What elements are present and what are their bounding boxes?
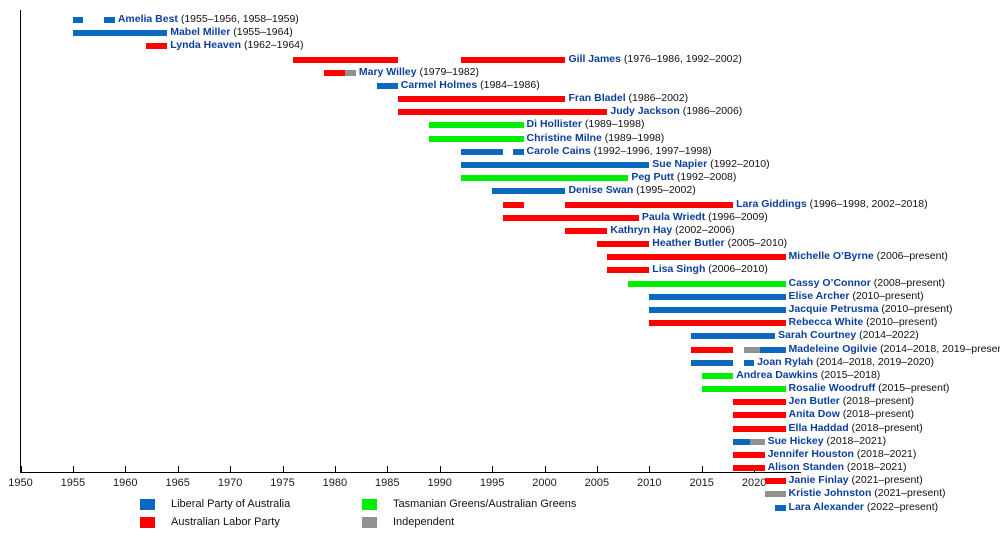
timeline-row[interactable]: Jacquie Petrusma (2010–present) — [0, 304, 1000, 317]
member-term-years: (2006–2010) — [705, 263, 767, 275]
timeline-row-label: Sarah Courtney (2014–2022) — [778, 329, 919, 342]
member-name: Heather Butler — [652, 237, 724, 249]
timeline-row[interactable]: Kathryn Hay (2002–2006) — [0, 225, 1000, 238]
member-term-years: (2018–present) — [840, 408, 914, 420]
timeline-row-label: Heather Butler (2005–2010) — [652, 237, 787, 250]
timeline-chart: 1950195519601965197019751980198519901995… — [0, 0, 1000, 546]
timeline-bar-segment[interactable] — [146, 43, 167, 49]
member-term-years: (2008–present) — [871, 277, 945, 289]
timeline-row[interactable]: Andrea Dawkins (2015–2018) — [0, 370, 1000, 383]
member-term-years: (2015–present) — [875, 382, 949, 394]
timeline-row-label: Kristie Johnston (2021–present) — [789, 487, 946, 500]
timeline-bar-segment[interactable] — [513, 149, 523, 155]
timeline-bar-segment[interactable] — [377, 83, 398, 89]
timeline-bar-segment[interactable] — [733, 426, 785, 432]
timeline-bar-segment[interactable] — [649, 294, 785, 300]
legend-swatch-independent — [362, 517, 377, 528]
timeline-bar-segment[interactable] — [733, 412, 785, 418]
member-name: Mabel Miller — [170, 26, 230, 38]
member-term-years: (1996–1998, 2002–2018) — [807, 198, 928, 210]
timeline-row[interactable]: Paula Wriedt (1996–2009) — [0, 212, 1000, 225]
timeline-row-label: Amelia Best (1955–1956, 1958–1959) — [118, 13, 299, 26]
timeline-bar-segment[interactable] — [649, 307, 785, 313]
timeline-row[interactable]: Jen Butler (2018–present) — [0, 396, 1000, 409]
timeline-bar-segment[interactable] — [324, 70, 345, 76]
timeline-row[interactable]: Ella Haddad (2018–present) — [0, 423, 1000, 436]
timeline-row[interactable]: Janie Finlay (2021–present) — [0, 475, 1000, 488]
timeline-bar-segment[interactable] — [398, 96, 566, 102]
member-term-years: (1992–2010) — [707, 158, 769, 170]
timeline-bar-segment[interactable] — [649, 320, 785, 326]
member-term-years: (2010–present) — [849, 290, 923, 302]
timeline-row-label: Carmel Holmes (1984–1986) — [401, 79, 540, 92]
member-name: Ella Haddad — [789, 422, 849, 434]
member-name: Elise Archer — [789, 290, 850, 302]
member-term-years: (1996–2009) — [705, 211, 767, 223]
member-term-years: (2015–2018) — [818, 369, 880, 381]
timeline-row[interactable]: Jennifer Houston (2018–2021) — [0, 449, 1000, 462]
member-term-years: (2002–2006) — [672, 224, 734, 236]
timeline-row[interactable]: Anita Dow (2018–present) — [0, 409, 1000, 422]
member-term-years: (1986–2006) — [680, 105, 742, 117]
timeline-bar-segment[interactable] — [691, 347, 733, 353]
member-term-years: (1995–2002) — [633, 184, 695, 196]
timeline-row-label: Madeleine Ogilvie (2014–2018, 2019–prese… — [789, 343, 1000, 356]
timeline-bar-segment[interactable] — [607, 267, 649, 273]
timeline-bar-segment[interactable] — [104, 17, 114, 23]
timeline-row[interactable]: Michelle O’Byrne (2006–present) — [0, 251, 1000, 264]
timeline-row-label: Lara Alexander (2022–present) — [789, 501, 939, 514]
timeline-row-label: Di Hollister (1989–1998) — [527, 118, 645, 131]
member-term-years: (2005–2010) — [725, 237, 787, 249]
timeline-row[interactable]: Heather Butler (2005–2010) — [0, 238, 1000, 251]
member-term-years: (2018–present) — [840, 395, 914, 407]
member-name: Christine Milne — [527, 132, 602, 144]
timeline-row[interactable]: Mary Willey (1979–1982) — [0, 67, 1000, 80]
timeline-row[interactable]: Peg Putt (1992–2008) — [0, 172, 1000, 185]
member-name: Cassy O’Connor — [789, 277, 871, 289]
timeline-row[interactable]: Cassy O’Connor (2008–present) — [0, 278, 1000, 291]
timeline-row[interactable]: Carmel Holmes (1984–1986) — [0, 80, 1000, 93]
timeline-row-label: Cassy O’Connor (2008–present) — [789, 277, 945, 290]
member-term-years: (2018–2021) — [824, 435, 886, 447]
member-name: Jennifer Houston — [768, 448, 854, 460]
timeline-row-label: Joan Rylah (2014–2018, 2019–2020) — [757, 356, 934, 369]
member-name: Alison Standen — [768, 461, 844, 473]
timeline-row[interactable]: Joan Rylah (2014–2018, 2019–2020) — [0, 357, 1000, 370]
member-term-years: (1989–1998) — [582, 118, 644, 130]
timeline-bar-segment[interactable] — [565, 228, 607, 234]
timeline-bar-segment[interactable] — [750, 439, 765, 445]
member-term-years: (1986–2002) — [626, 92, 688, 104]
member-name: Kristie Johnston — [789, 487, 872, 499]
timeline-row-label: Gill James (1976–1986, 1992–2002) — [568, 53, 741, 66]
timeline-row[interactable]: Rosalie Woodruff (2015–present) — [0, 383, 1000, 396]
timeline-row[interactable]: Gill James (1976–1986, 1992–2002) — [0, 54, 1000, 67]
timeline-bar-segment[interactable] — [429, 122, 523, 128]
member-name: Jacquie Petrusma — [789, 303, 879, 315]
timeline-row-label: Kathryn Hay (2002–2006) — [610, 224, 734, 237]
timeline-bar-segment[interactable] — [293, 57, 398, 63]
member-term-years: (1962–1964) — [241, 39, 303, 51]
member-name: Lynda Heaven — [170, 39, 241, 51]
timeline-bar-segment[interactable] — [691, 360, 733, 366]
member-term-years: (2022–present) — [864, 501, 938, 513]
legend-swatch-labor — [140, 517, 155, 528]
timeline-row-label: Rosalie Woodruff (2015–present) — [789, 382, 950, 395]
member-name: Di Hollister — [527, 118, 582, 130]
member-name: Madeleine Ogilvie — [789, 343, 878, 355]
timeline-row[interactable]: Christine Milne (1989–1998) — [0, 133, 1000, 146]
timeline-row-label: Lara Giddings (1996–1998, 2002–2018) — [736, 198, 927, 211]
timeline-row-label: Ella Haddad (2018–present) — [789, 422, 923, 435]
timeline-bar-segment[interactable] — [73, 17, 83, 23]
timeline-row-label: Denise Swan (1995–2002) — [568, 184, 695, 197]
timeline-bar-segment[interactable] — [744, 360, 754, 366]
timeline-row[interactable]: Sarah Courtney (2014–2022) — [0, 330, 1000, 343]
legend-label: Independent — [393, 514, 454, 530]
timeline-bar-segment[interactable] — [702, 373, 733, 379]
member-name: Rosalie Woodruff — [789, 382, 876, 394]
timeline-bar-segment[interactable] — [461, 149, 503, 155]
member-term-years: (2018–2021) — [854, 448, 916, 460]
member-name: Joan Rylah — [757, 356, 813, 368]
timeline-row-label: Judy Jackson (1986–2006) — [610, 105, 742, 118]
member-term-years: (2010–present) — [863, 316, 937, 328]
member-name: Carmel Holmes — [401, 79, 477, 91]
member-name: Sue Hickey — [768, 435, 824, 447]
member-name: Judy Jackson — [610, 105, 679, 117]
member-term-years: (2021–present) — [871, 487, 945, 499]
timeline-row-label: Peg Putt (1992–2008) — [631, 171, 736, 184]
timeline-row-label: Fran Bladel (1986–2002) — [568, 92, 688, 105]
timeline-bar-segment[interactable] — [760, 347, 785, 353]
timeline-bar-segment[interactable] — [691, 333, 775, 339]
timeline-row-label: Mary Willey (1979–1982) — [359, 66, 479, 79]
timeline-row[interactable]: Madeleine Ogilvie (2014–2018, 2019–prese… — [0, 344, 1000, 357]
timeline-row-label: Jen Butler (2018–present) — [789, 395, 915, 408]
timeline-row[interactable]: Carole Cains (1992–1996, 1997–1998) — [0, 146, 1000, 159]
legend-swatch-liberal — [140, 499, 155, 510]
timeline-bar-segment[interactable] — [733, 452, 764, 458]
legend-swatch-greens — [362, 499, 377, 510]
member-name: Jen Butler — [789, 395, 840, 407]
timeline-bar-segment[interactable] — [702, 386, 786, 392]
timeline-row-label: Elise Archer (2010–present) — [789, 290, 924, 303]
member-name: Mary Willey — [359, 66, 417, 78]
timeline-bar-segment[interactable] — [765, 478, 786, 484]
timeline-row[interactable]: Denise Swan (1995–2002) — [0, 185, 1000, 198]
member-name: Janie Finlay — [789, 474, 849, 486]
timeline-row[interactable]: Judy Jackson (1986–2006) — [0, 106, 1000, 119]
member-term-years: (2014–2022) — [856, 329, 918, 341]
timeline-row-label: Sue Hickey (2018–2021) — [768, 435, 887, 448]
timeline-bar-segment[interactable] — [503, 202, 524, 208]
timeline-row-label: Alison Standen (2018–2021) — [768, 461, 907, 474]
timeline-row[interactable]: Mabel Miller (1955–1964) — [0, 27, 1000, 40]
timeline-bar-segment[interactable] — [73, 30, 167, 36]
timeline-row-label: Lisa Singh (2006–2010) — [652, 263, 768, 276]
member-name: Anita Dow — [789, 408, 840, 420]
member-term-years: (2018–2021) — [844, 461, 906, 473]
timeline-row[interactable]: Amelia Best (1955–1956, 1958–1959) — [0, 14, 1000, 27]
member-name: Gill James — [568, 53, 621, 65]
timeline-bar-segment[interactable] — [345, 70, 355, 76]
member-term-years: (2014–2018, 2019–2020) — [813, 356, 934, 368]
member-term-years: (1992–1996, 1997–1998) — [591, 145, 712, 157]
timeline-bar-segment[interactable] — [607, 254, 785, 260]
timeline-bar-segment[interactable] — [775, 505, 785, 511]
member-name: Andrea Dawkins — [736, 369, 818, 381]
member-term-years: (1976–1986, 1992–2002) — [621, 53, 742, 65]
member-name: Amelia Best — [118, 13, 178, 25]
timeline-bar-segment[interactable] — [733, 439, 750, 445]
member-term-years: (1989–1998) — [602, 132, 664, 144]
member-name: Paula Wriedt — [642, 211, 705, 223]
timeline-bar-segment[interactable] — [461, 57, 566, 63]
timeline-bar-segment[interactable] — [597, 241, 649, 247]
member-term-years: (2018–present) — [849, 422, 923, 434]
member-name: Denise Swan — [568, 184, 633, 196]
timeline-row[interactable]: Elise Archer (2010–present) — [0, 291, 1000, 304]
timeline-bar-segment[interactable] — [733, 465, 764, 471]
timeline-bar-segment[interactable] — [429, 136, 523, 142]
timeline-row[interactable]: Fran Bladel (1986–2002) — [0, 93, 1000, 106]
timeline-row[interactable]: Rebecca White (2010–present) — [0, 317, 1000, 330]
member-term-years: (1984–1986) — [477, 79, 539, 91]
timeline-row-label: Sue Napier (1992–2010) — [652, 158, 769, 171]
timeline-bar-segment[interactable] — [398, 109, 608, 115]
timeline-bar-segment[interactable] — [744, 347, 761, 353]
timeline-row-label: Anita Dow (2018–present) — [789, 408, 914, 421]
timeline-row-label: Jacquie Petrusma (2010–present) — [789, 303, 953, 316]
timeline-row-label: Mabel Miller (1955–1964) — [170, 26, 293, 39]
timeline-row-label: Lynda Heaven (1962–1964) — [170, 39, 303, 52]
timeline-row[interactable]: Sue Napier (1992–2010) — [0, 159, 1000, 172]
member-name: Lisa Singh — [652, 263, 705, 275]
member-term-years: (2006–present) — [874, 250, 948, 262]
timeline-row-label: Michelle O’Byrne (2006–present) — [789, 250, 948, 263]
timeline-row-label: Andrea Dawkins (2015–2018) — [736, 369, 880, 382]
timeline-row-label: Janie Finlay (2021–present) — [789, 474, 923, 487]
member-name: Rebecca White — [789, 316, 864, 328]
timeline-row-label: Paula Wriedt (1996–2009) — [642, 211, 768, 224]
timeline-row-label: Christine Milne (1989–1998) — [527, 132, 665, 145]
member-term-years: (2021–present) — [849, 474, 923, 486]
legend-label: Liberal Party of Australia — [171, 496, 290, 512]
member-name: Sarah Courtney — [778, 329, 856, 341]
timeline-row[interactable]: Sue Hickey (2018–2021) — [0, 436, 1000, 449]
member-term-years: (2010–present) — [878, 303, 952, 315]
member-name: Lara Alexander — [789, 501, 864, 513]
timeline-row-label: Rebecca White (2010–present) — [789, 316, 938, 329]
member-term-years: (2014–2018, 2019–presen — [877, 343, 1000, 355]
legend-label: Australian Labor Party — [171, 514, 280, 530]
timeline-row-label: Carole Cains (1992–1996, 1997–1998) — [527, 145, 712, 158]
timeline-bar-segment[interactable] — [733, 399, 785, 405]
timeline-row[interactable]: Alison Standen (2018–2021) — [0, 462, 1000, 475]
member-name: Carole Cains — [527, 145, 591, 157]
timeline-row[interactable]: Lara Giddings (1996–1998, 2002–2018) — [0, 199, 1000, 212]
member-name: Kathryn Hay — [610, 224, 672, 236]
member-name: Fran Bladel — [568, 92, 625, 104]
member-name: Lara Giddings — [736, 198, 807, 210]
timeline-bar-segment[interactable] — [628, 281, 785, 287]
timeline-row-label: Jennifer Houston (2018–2021) — [768, 448, 917, 461]
timeline-bar-segment[interactable] — [492, 188, 565, 194]
timeline-bar-segment[interactable] — [503, 215, 639, 221]
timeline-bar-segment[interactable] — [565, 202, 733, 208]
member-name: Michelle O’Byrne — [789, 250, 874, 262]
member-name: Peg Putt — [631, 171, 674, 183]
timeline-row[interactable]: Lisa Singh (2006–2010) — [0, 264, 1000, 277]
timeline-row[interactable]: Di Hollister (1989–1998) — [0, 119, 1000, 132]
timeline-bar-segment[interactable] — [461, 162, 650, 168]
member-term-years: (1979–1982) — [417, 66, 479, 78]
timeline-bar-segment[interactable] — [461, 175, 629, 181]
member-term-years: (1992–2008) — [674, 171, 736, 183]
timeline-bar-segment[interactable] — [765, 491, 786, 497]
timeline-row[interactable]: Lynda Heaven (1962–1964) — [0, 40, 1000, 53]
member-name: Sue Napier — [652, 158, 707, 170]
legend-label: Tasmanian Greens/Australian Greens — [393, 496, 576, 512]
member-term-years: (1955–1964) — [230, 26, 292, 38]
member-term-years: (1955–1956, 1958–1959) — [178, 13, 299, 25]
